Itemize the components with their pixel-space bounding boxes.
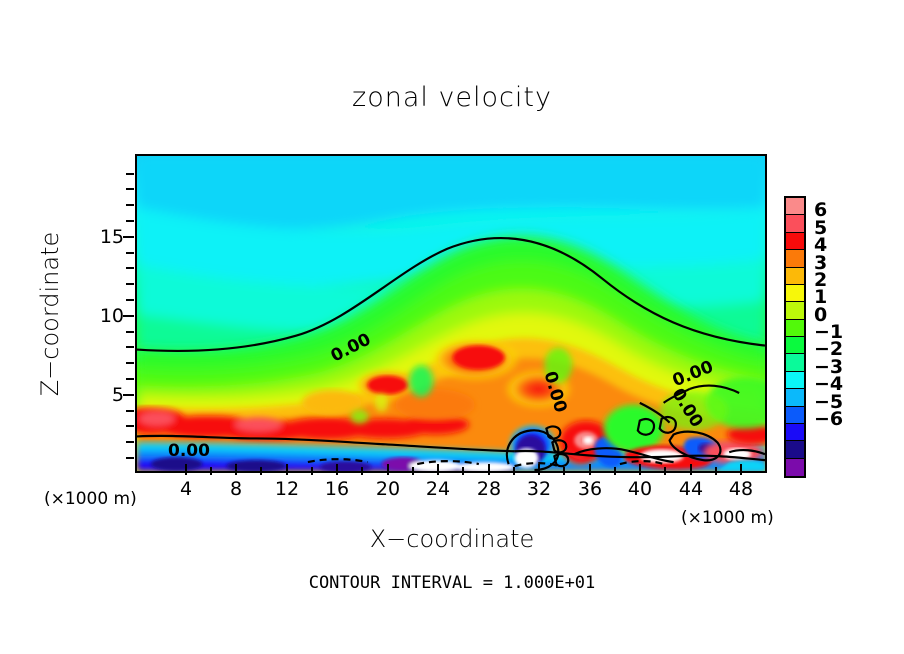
colorbar-band-10: [786, 372, 804, 389]
colorbar-band-0: [786, 198, 804, 215]
xtick-46: [715, 467, 717, 475]
xtick-label-8: 8: [216, 478, 256, 500]
colorbar-band-15: [786, 459, 804, 476]
xtick-label-24: 24: [418, 478, 458, 500]
xtick-8: [235, 464, 237, 475]
colorbar-band-2: [786, 233, 804, 250]
ytick-12: [126, 283, 134, 285]
ytick-16: [126, 220, 134, 222]
figure-contour-plot: zonal velocity: [0, 0, 904, 654]
colorbar: [784, 196, 806, 478]
xtick-16: [336, 464, 338, 475]
ytick-label-5: 5: [92, 384, 124, 406]
xtick-10: [260, 467, 262, 475]
colorbar-band-8: [786, 337, 804, 354]
ytick-label-15: 15: [92, 226, 124, 248]
xtick-36: [589, 464, 591, 475]
colorbar-band-4: [786, 268, 804, 285]
ytick-7: [126, 362, 134, 364]
colorbar-band-7: [786, 320, 804, 337]
xtick-14: [311, 467, 313, 475]
contour-interval-caption: CONTOUR INTERVAL = 1.000E+01: [0, 573, 904, 593]
ytick-3: [126, 425, 134, 427]
xtick-38: [614, 467, 616, 475]
ytick-9: [126, 331, 134, 333]
ytick-1: [126, 457, 134, 459]
xtick-label-48: 48: [721, 478, 761, 500]
contour-field: [137, 156, 765, 471]
xtick-40: [639, 464, 641, 475]
xtick-label-32: 32: [519, 478, 559, 500]
colorbar-band-11: [786, 389, 804, 406]
colorbar-band-9: [786, 354, 804, 371]
xtick-label-12: 12: [267, 478, 307, 500]
xtick-18: [361, 467, 363, 475]
ytick-15: [123, 236, 134, 238]
xtick-label-36: 36: [570, 478, 610, 500]
xtick-48: [740, 464, 742, 475]
colorbar-band-14: [786, 441, 804, 458]
xtick-label-44: 44: [671, 478, 711, 500]
xtick-32: [538, 464, 540, 475]
colorbar-band-6: [786, 302, 804, 319]
ytick-10: [123, 315, 134, 317]
ytick-label-10: 10: [92, 305, 124, 327]
xtick-6: [210, 467, 212, 475]
ytick-19: [126, 173, 134, 175]
ytick-18: [126, 188, 134, 190]
xtick-30: [513, 467, 515, 475]
ytick-14: [126, 252, 134, 254]
xtick-22: [412, 467, 414, 475]
plot-area: [135, 154, 767, 473]
ytick-2: [126, 441, 134, 443]
xtick-28: [488, 464, 490, 475]
colorbar-tick-label-minus6: −6: [814, 408, 843, 430]
y-axis-title: Z−coordinate: [36, 204, 64, 424]
ytick-6: [126, 378, 134, 380]
colorbar-band-13: [786, 424, 804, 441]
xtick-4: [185, 464, 187, 475]
colorbar-band-1: [786, 215, 804, 232]
x-axis-unit: (×1000 m): [681, 508, 774, 528]
colorbar-band-5: [786, 285, 804, 302]
xtick-label-28: 28: [469, 478, 509, 500]
colorbar-band-12: [786, 407, 804, 424]
colorbar-band-3: [786, 250, 804, 267]
ytick-4: [126, 410, 134, 412]
xtick-label-4: 4: [166, 478, 206, 500]
contour-label-zero-lower-left: 0.00: [168, 441, 210, 461]
ytick-5: [123, 394, 134, 396]
xtick-44: [690, 464, 692, 475]
xtick-24: [437, 464, 439, 475]
page-title: zonal velocity: [0, 82, 904, 113]
xtick-label-40: 40: [620, 478, 660, 500]
ytick-17: [126, 204, 134, 206]
ytick-11: [126, 299, 134, 301]
xtick-20: [387, 464, 389, 475]
xtick-26: [462, 467, 464, 475]
xtick-42: [664, 467, 666, 475]
xtick-label-16: 16: [317, 478, 357, 500]
ytick-8: [126, 346, 134, 348]
ytick-13: [126, 267, 134, 269]
x-axis-title: X−coordinate: [0, 525, 904, 553]
xtick-12: [286, 464, 288, 475]
xtick-label-20: 20: [368, 478, 408, 500]
y-axis-unit: (×1000 m): [44, 489, 137, 509]
xtick-34: [563, 467, 565, 475]
